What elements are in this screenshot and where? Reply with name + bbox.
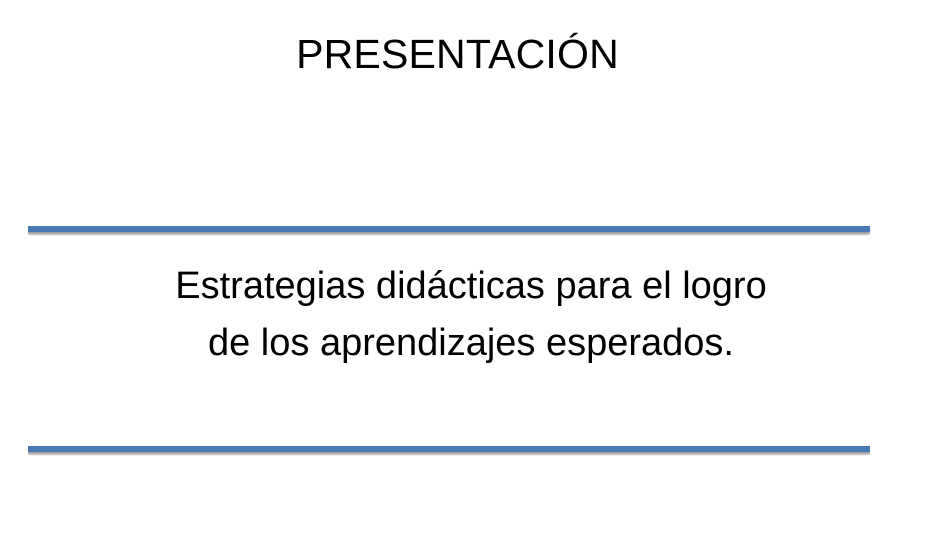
body-line-1: Estrategias didácticas para el logro <box>0 258 942 315</box>
body-line-2: de los aprendizajes esperados. <box>0 315 942 372</box>
presentation-slide: PRESENTACIÓN Estrategias didácticas para… <box>0 0 942 554</box>
page-title: PRESENTACIÓN <box>0 30 915 79</box>
top-divider-rule <box>28 226 870 232</box>
bottom-divider-rule <box>28 446 870 452</box>
slide-body-text: Estrategias didácticas para el logro de … <box>0 258 942 372</box>
